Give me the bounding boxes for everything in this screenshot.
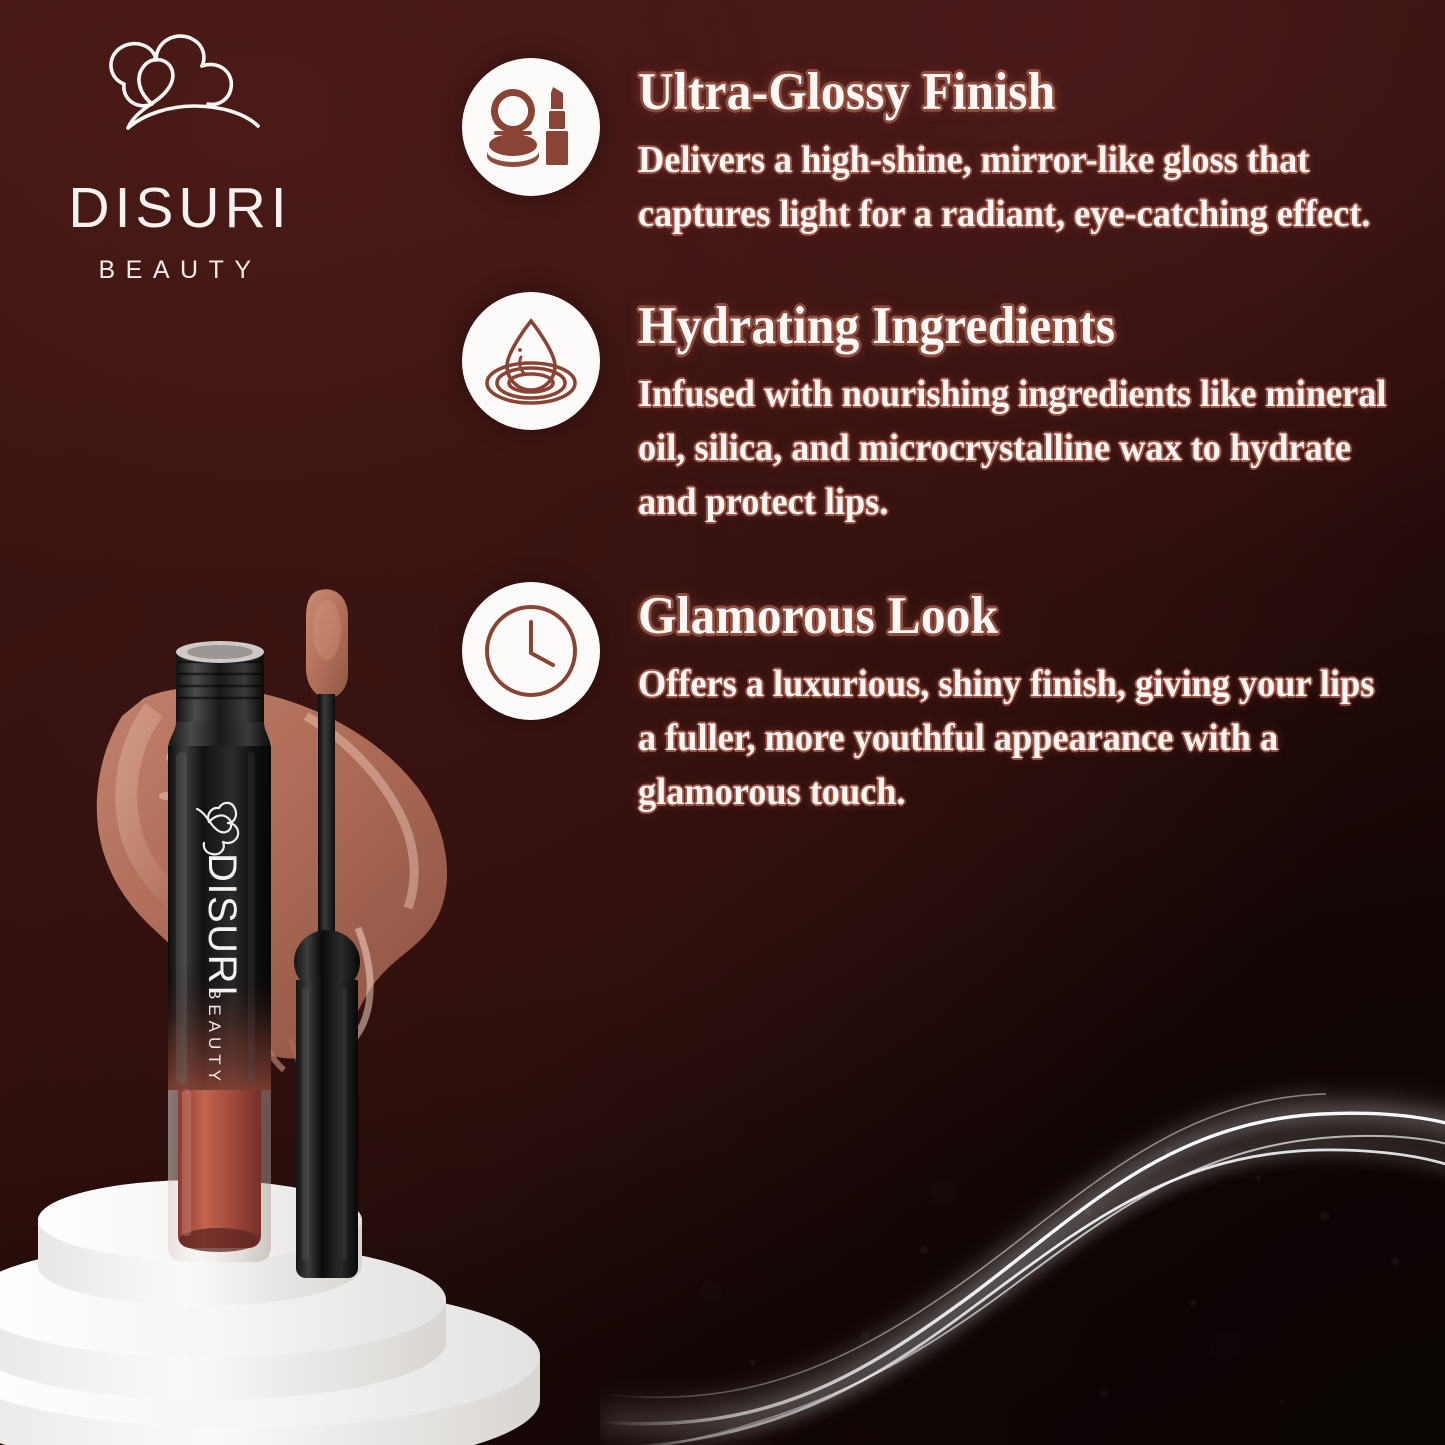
compact-lipstick-icon xyxy=(462,58,600,196)
feature-item-ultra-glossy-finish: Ultra-Glossy Finish Delivers a high-shin… xyxy=(462,58,1437,242)
cloud-flourish-mark-icon xyxy=(82,22,267,142)
brand-name: DISURI xyxy=(30,180,330,237)
lip-gloss-tube: DISURI BEAUTY xyxy=(152,628,287,1268)
feature-title: Hydrating Ingredients xyxy=(638,298,1381,354)
feature-description: Delivers a high-shine, mirror-like gloss… xyxy=(638,134,1401,242)
feature-title: Glamorous Look xyxy=(638,588,1381,644)
feature-description: Infused with nourishing ingredients like… xyxy=(638,368,1401,530)
feature-item-hydrating-ingredients: Hydrating Ingredients Infused with nouri… xyxy=(462,292,1437,530)
product-scene: DISURI BEAUTY xyxy=(0,560,660,1445)
feature-description: Offers a luxurious, shiny finish, giving… xyxy=(638,658,1401,820)
brand-tagline: BEAUTY xyxy=(30,258,330,283)
light-wave-ribbons xyxy=(600,1050,1445,1445)
water-drop-ripple-icon xyxy=(462,292,600,430)
product-feature-poster: DISURI BEAUTY xyxy=(0,0,1445,1445)
brand-logo: DISURI BEAUTY xyxy=(30,22,330,292)
applicator-wand xyxy=(290,582,420,1282)
feature-title: Ultra-Glossy Finish xyxy=(638,64,1381,120)
svg-text:DISURI: DISURI xyxy=(200,853,244,998)
svg-text:BEAUTY: BEAUTY xyxy=(205,988,224,1086)
